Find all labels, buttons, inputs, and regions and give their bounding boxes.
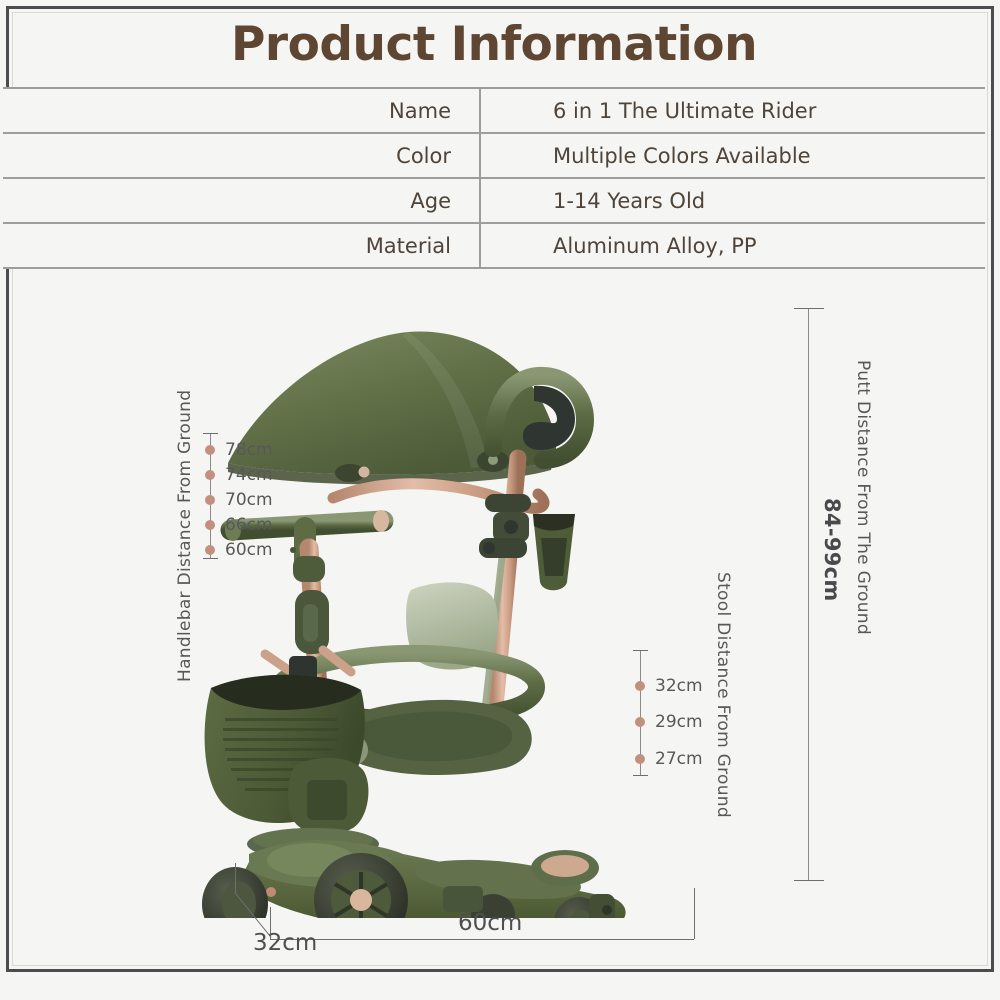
cup-holder [533, 514, 575, 590]
width-dimension-tick-right [694, 888, 695, 939]
spec-label: Material [3, 223, 480, 268]
stool-scale-cap-bottom [633, 775, 648, 776]
depth-dimension-label: 32cm [253, 930, 317, 956]
handlebar-scale-cap-bottom [203, 558, 218, 559]
depth-dimension-tick-outer [235, 863, 236, 893]
width-dimension-label: 60cm [458, 910, 522, 936]
putt-bracket-cap-bottom [794, 880, 824, 881]
handlebar-tick-label: 74cm [225, 465, 273, 485]
product-diagram-area: Handlebar Distance From Ground 78cm 74cm… [3, 278, 985, 966]
putt-axis-label: Putt Distance From The Ground [853, 360, 873, 635]
handlebar-tick-label: 66cm [225, 515, 273, 535]
page-title: Product Information [0, 18, 988, 72]
stool-tick-label: 29cm [655, 712, 703, 732]
width-dimension-line [270, 939, 694, 940]
front-mast-collar [293, 556, 329, 654]
putt-value-label: 84-99cm [820, 498, 844, 602]
spec-value: 6 in 1 The Ultimate Rider [480, 88, 985, 133]
table-row: Material Aluminum Alloy, PP [3, 223, 985, 268]
handlebar-tick-dot [205, 520, 215, 530]
handlebar-tick-label: 78cm [225, 440, 273, 460]
spec-label: Name [3, 88, 480, 133]
spec-label: Color [3, 133, 480, 178]
stool-tick-label: 32cm [655, 676, 703, 696]
handlebar-tick-dot [205, 470, 215, 480]
putt-bracket-cap-top [794, 308, 824, 309]
spec-value: 1-14 Years Old [480, 178, 985, 223]
stool-axis-label: Stool Distance From Ground [713, 572, 733, 818]
stool-tick-dot [635, 717, 645, 727]
handlebar-tick-label: 60cm [225, 540, 273, 560]
stool-tick-dot [635, 681, 645, 691]
stool-tick-label: 27cm [655, 749, 703, 769]
putt-bracket-stem [808, 308, 809, 880]
spec-value: Multiple Colors Available [480, 133, 985, 178]
table-row: Color Multiple Colors Available [3, 133, 985, 178]
spec-value: Aluminum Alloy, PP [480, 223, 985, 268]
handlebar-tick-dot [205, 545, 215, 555]
stool-scale-cap-top [633, 650, 648, 651]
handlebar-axis-label: Handlebar Distance From Ground [175, 390, 195, 682]
product-image-ride-on-scooter [193, 298, 683, 918]
handlebar-tick-dot [205, 495, 215, 505]
rear-mast-clamp [479, 494, 531, 558]
product-information-card: Product Information Name 6 in 1 The Ulti… [0, 0, 1000, 1000]
stool-tick-dot [635, 754, 645, 764]
handlebar-tick-dot [205, 445, 215, 455]
spec-table: Name 6 in 1 The Ultimate Rider Color Mul… [3, 87, 985, 269]
handlebar-scale-cap-top [203, 433, 218, 434]
table-row: Age 1-14 Years Old [3, 178, 985, 223]
table-row: Name 6 in 1 The Ultimate Rider [3, 88, 985, 133]
handlebar-tick-label: 70cm [225, 490, 273, 510]
spec-label: Age [3, 178, 480, 223]
